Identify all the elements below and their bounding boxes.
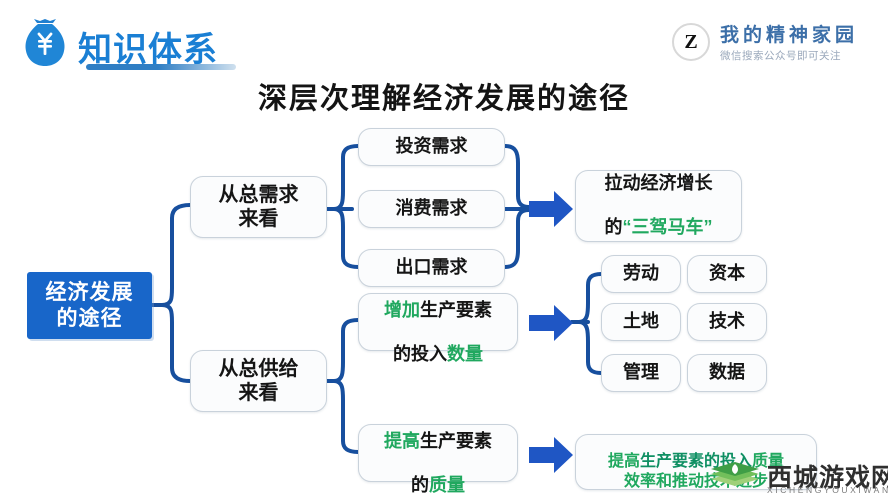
node-demand-investment[interactable]: 投资需求: [358, 128, 505, 166]
supply-quality-line2: 的质量: [411, 453, 465, 497]
node-factor-land[interactable]: 土地: [601, 303, 681, 341]
layered-leaf-icon: [707, 460, 763, 496]
node-demand-consumption[interactable]: 消费需求: [358, 190, 505, 228]
node-supply-quality[interactable]: 提高生产要素 的质量: [358, 424, 518, 482]
supply-quality-line1: 提高生产要素: [384, 409, 492, 453]
node-root[interactable]: 经济发展 的途径: [27, 272, 152, 339]
arrow-to-demand-result: [527, 188, 575, 230]
demand-result-line1: 拉动经济增长: [605, 173, 713, 195]
mindmap: 经济发展 的途径 从总需求 来看 从总供给 来看 投资需求 消费需求 出口需求 …: [0, 0, 888, 500]
node-factor-management[interactable]: 管理: [601, 354, 681, 392]
node-branch-demand[interactable]: 从总需求 来看: [190, 176, 327, 238]
arrow-to-quality-result: [527, 434, 575, 476]
demand-result-line2: 的“三驾马车”: [605, 195, 713, 239]
supply-quantity-line2: 的投入数量: [393, 322, 483, 366]
watermark: 西城游戏网 XICHENGYOUXIWANG: [707, 458, 885, 498]
node-factor-data[interactable]: 数据: [687, 354, 767, 392]
diagram-canvas: 知识体系 Z 我的精神家园 微信搜索公众号即可关注 深层次理解经济发展的途径: [0, 0, 888, 500]
node-factor-labor[interactable]: 劳动: [601, 255, 681, 293]
node-demand-result[interactable]: 拉动经济增长 的“三驾马车”: [575, 170, 742, 242]
node-supply-quantity[interactable]: 增加生产要素 的投入数量: [358, 293, 518, 351]
watermark-pinyin: XICHENGYOUXIWANG: [767, 485, 888, 495]
node-factor-capital[interactable]: 资本: [687, 255, 767, 293]
node-factor-technology[interactable]: 技术: [687, 303, 767, 341]
supply-quantity-line1: 增加生产要素: [384, 278, 492, 322]
arrow-to-factors: [527, 302, 575, 344]
node-branch-supply[interactable]: 从总供给 来看: [190, 350, 327, 412]
